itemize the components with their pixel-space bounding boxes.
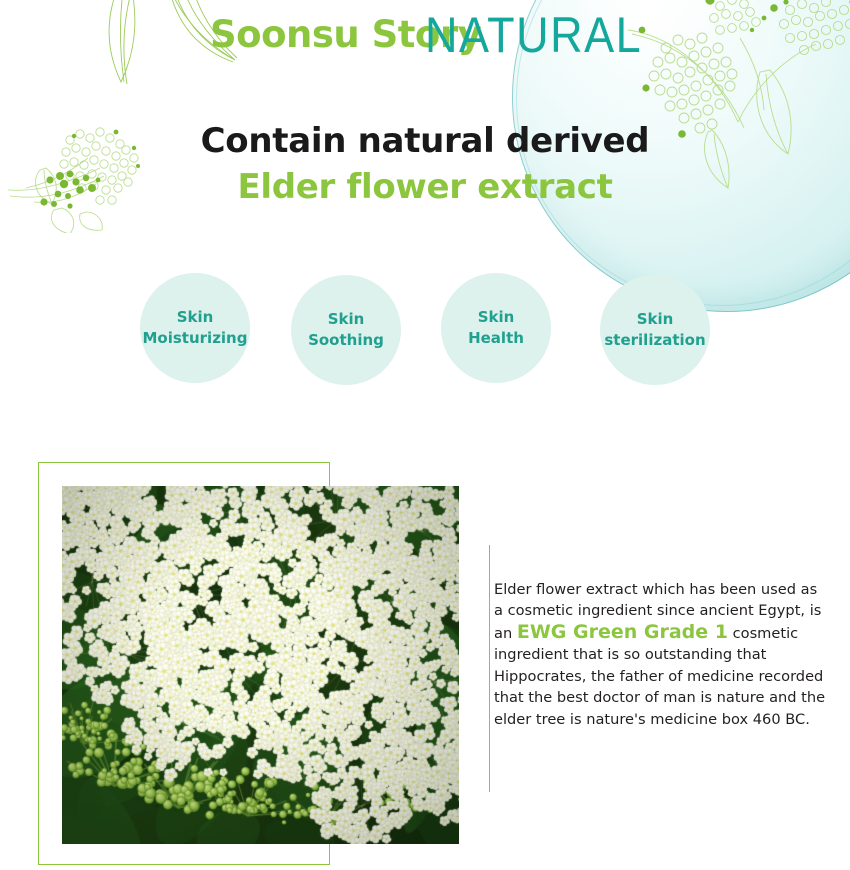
benefit-label-line-1: Skin [143,307,248,328]
brand-suffix: NATURAL [425,6,642,64]
benefit-label-line-2: Soothing [308,330,384,351]
benefit-circle-group: Skin Moisturizing Skin Soothing Skin Hea… [140,273,720,385]
benefit-circle-moisturizing[interactable]: Skin Moisturizing [140,273,250,383]
promo-page: Soonsu Story NATURAL Contain natural der… [0,0,850,870]
description-text: Elder flower extract which has been used… [494,579,830,731]
benefit-circle-sterilization[interactable]: Skin sterilization [600,275,710,385]
headline-line-1: Contain natural derived [0,120,850,162]
benefit-label-line-1: Skin [308,309,384,330]
benefit-label-line-2: sterilization [604,330,705,351]
elder-flower-photo [62,486,459,844]
benefit-label-line-2: Health [468,328,524,349]
benefit-circle-soothing[interactable]: Skin Soothing [291,275,401,385]
benefit-circle-health[interactable]: Skin Health [441,273,551,383]
ewg-grade-highlight: EWG Green Grade 1 [517,621,728,643]
brand-title-row: Soonsu Story NATURAL [0,4,850,60]
benefit-label-line-1: Skin [468,307,524,328]
headline-line-2: Elder flower extract [0,162,850,212]
benefit-label-line-1: Skin [604,309,705,330]
benefit-label-line-2: Moisturizing [143,328,248,349]
page-headline: Contain natural derived Elder flower ext… [0,120,850,212]
description-accent-line [489,545,490,792]
elder-flower-photo-canvas [62,486,459,844]
